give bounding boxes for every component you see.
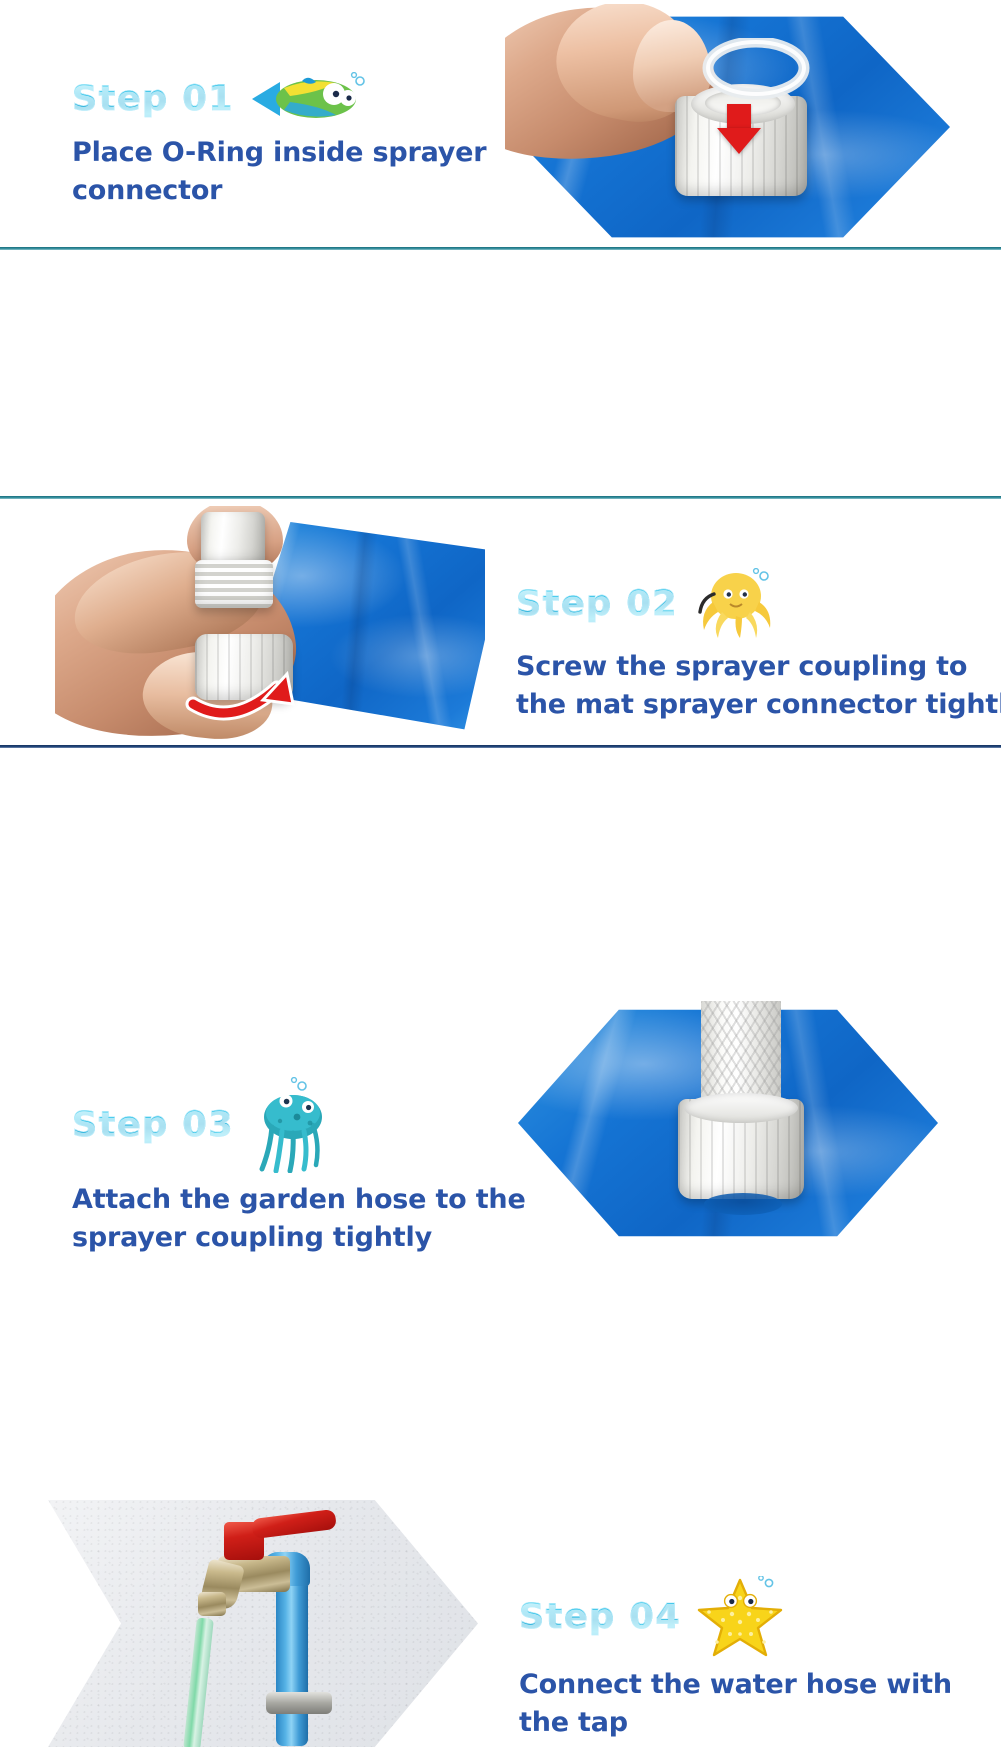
fish-icon: [250, 72, 366, 126]
instruction-sheet: Step 01: [0, 0, 1001, 1001]
step-1-text-block: Step 01: [72, 72, 486, 211]
step-4-title: Step 04: [519, 1597, 681, 1637]
photo-connect-tap: [48, 1500, 478, 1747]
photo-place-oring: [505, 4, 950, 244]
step-4-title-row: Step 04: [519, 1576, 952, 1658]
step-3-line-1: Attach the garden hose to the: [72, 1181, 526, 1219]
step-3-title: Step 03: [72, 1105, 234, 1145]
starfish-icon: [697, 1576, 783, 1658]
step-4-text-block: Step 04: [519, 1576, 952, 1743]
step-1-line-2: connector: [72, 172, 486, 210]
jellyfish-icon: [250, 1077, 336, 1173]
step-3-line-2: sprayer coupling tightly: [72, 1219, 526, 1257]
step-3-title-row: Step 03: [72, 1077, 526, 1173]
step-4-line-1: Connect the water hose with: [519, 1666, 952, 1704]
step-4-line-2: the tap: [519, 1704, 952, 1742]
step-1-line-1: Place O-Ring inside sprayer: [72, 134, 486, 172]
photo-attach-hose: [508, 1001, 948, 1244]
step-3-text-block: Step 03: [72, 1077, 526, 1258]
step-panel-4: Step 04: [0, 748, 1001, 1001]
step-panel-1: Step 01: [0, 0, 1001, 249]
step-panel-3: Step 03: [0, 499, 1001, 747]
step-1-title-row: Step 01: [72, 72, 486, 126]
step-1-title: Step 01: [72, 79, 234, 119]
step-panel-2: Step 02: [0, 250, 1001, 498]
